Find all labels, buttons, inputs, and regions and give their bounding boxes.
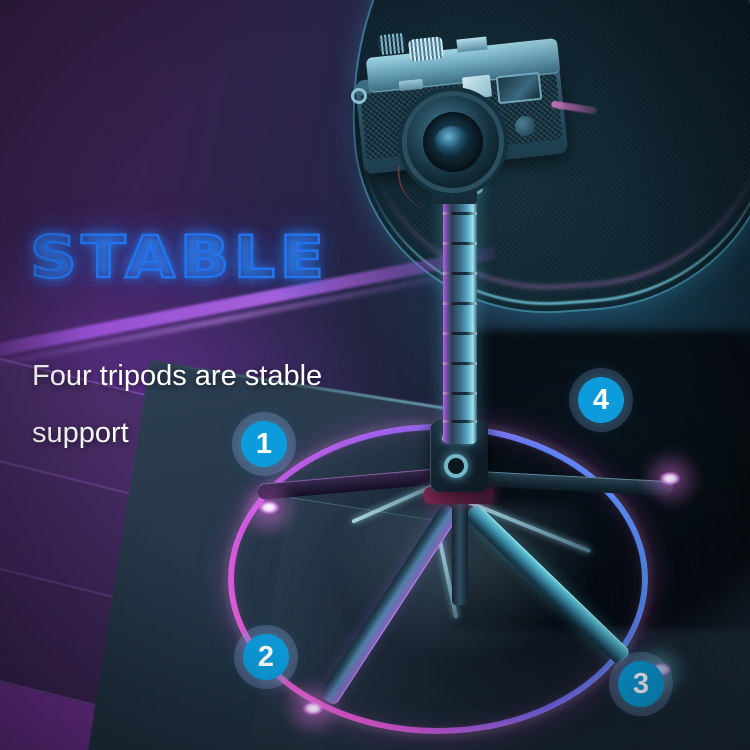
shutter-button[interactable]	[444, 454, 468, 478]
camera-shutter-dial	[408, 36, 444, 61]
stable-wordmark-reflection: STABLE	[30, 256, 400, 288]
product-feature-image: STABLE STABLE Four tripods are stable su…	[0, 0, 750, 750]
lens-reflection	[435, 126, 469, 156]
camera-rewind-dial	[378, 33, 406, 56]
camera-bright-window	[462, 75, 492, 100]
callout-badge-2[interactable]: 2	[243, 634, 289, 680]
leg-1-tip	[259, 501, 279, 514]
headline-line-2: support	[32, 405, 422, 462]
headline-line-1: Four tripods are stable	[32, 348, 422, 405]
camera	[345, 18, 580, 178]
telescoping-pole	[443, 186, 477, 444]
camera-viewfinder	[496, 72, 543, 104]
callout-badge-4[interactable]: 4	[578, 377, 624, 423]
tripod-center-shaft	[452, 495, 468, 605]
callout-badge-3[interactable]: 3	[618, 661, 664, 707]
headline-text: Four tripods are stable support	[32, 348, 422, 461]
stable-wordmark-group: STABLE STABLE	[30, 228, 360, 346]
leg-2-tip	[303, 702, 323, 715]
leg-4-tip	[660, 472, 680, 485]
callout-badge-1[interactable]: 1	[241, 421, 287, 467]
